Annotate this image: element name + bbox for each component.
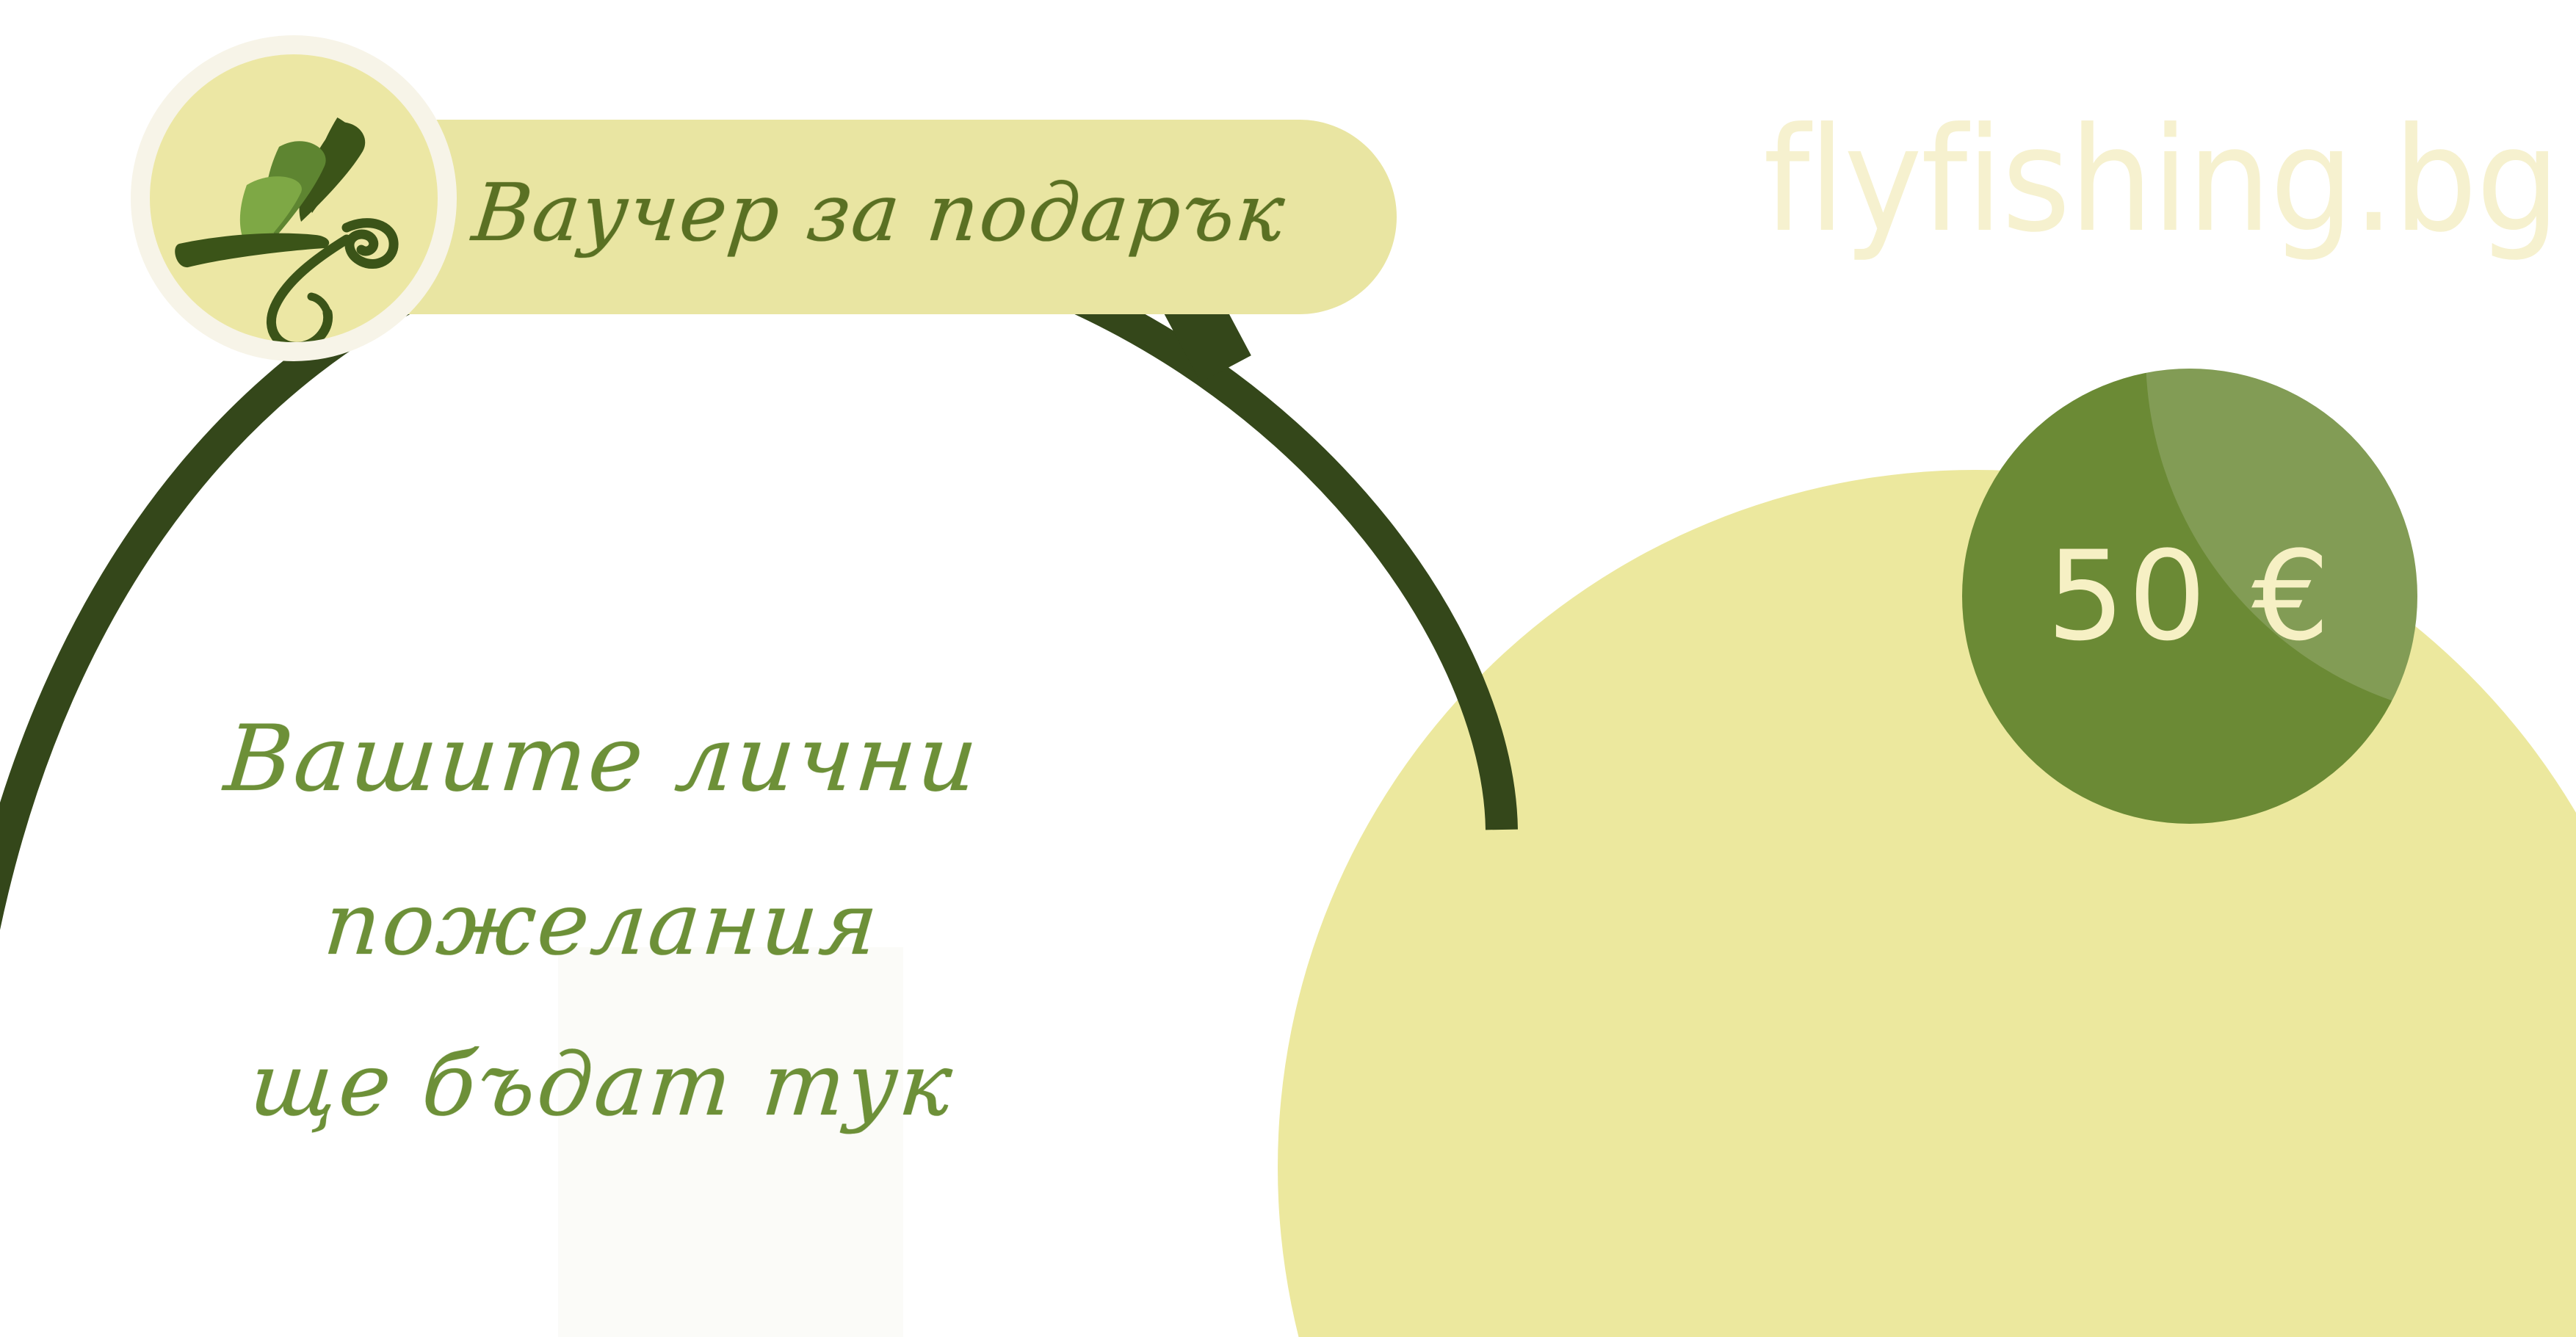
brand-wordmark: flyfishing.bg: [1763, 109, 2558, 253]
gift-voucher-card: Ваучер за подарък flyf: [0, 0, 2576, 1337]
brand-logo-inner-circle: [150, 54, 438, 342]
message-line-2: пожелания: [103, 844, 1101, 1004]
fly-fishing-fly-icon: [150, 54, 438, 342]
voucher-amount-badge: 50 €: [1962, 369, 2417, 824]
personal-message: Вашите лични пожелания ще бъдат тук: [110, 675, 1094, 1164]
message-line-3: ще бъдат тук: [103, 1004, 1101, 1164]
message-line-1: Вашите лични: [103, 675, 1101, 844]
voucher-title-text: Ваучер за подарък: [314, 167, 1290, 267]
voucher-amount-text: 50 €: [2047, 524, 2333, 668]
brand-logo-badge: [131, 35, 457, 361]
